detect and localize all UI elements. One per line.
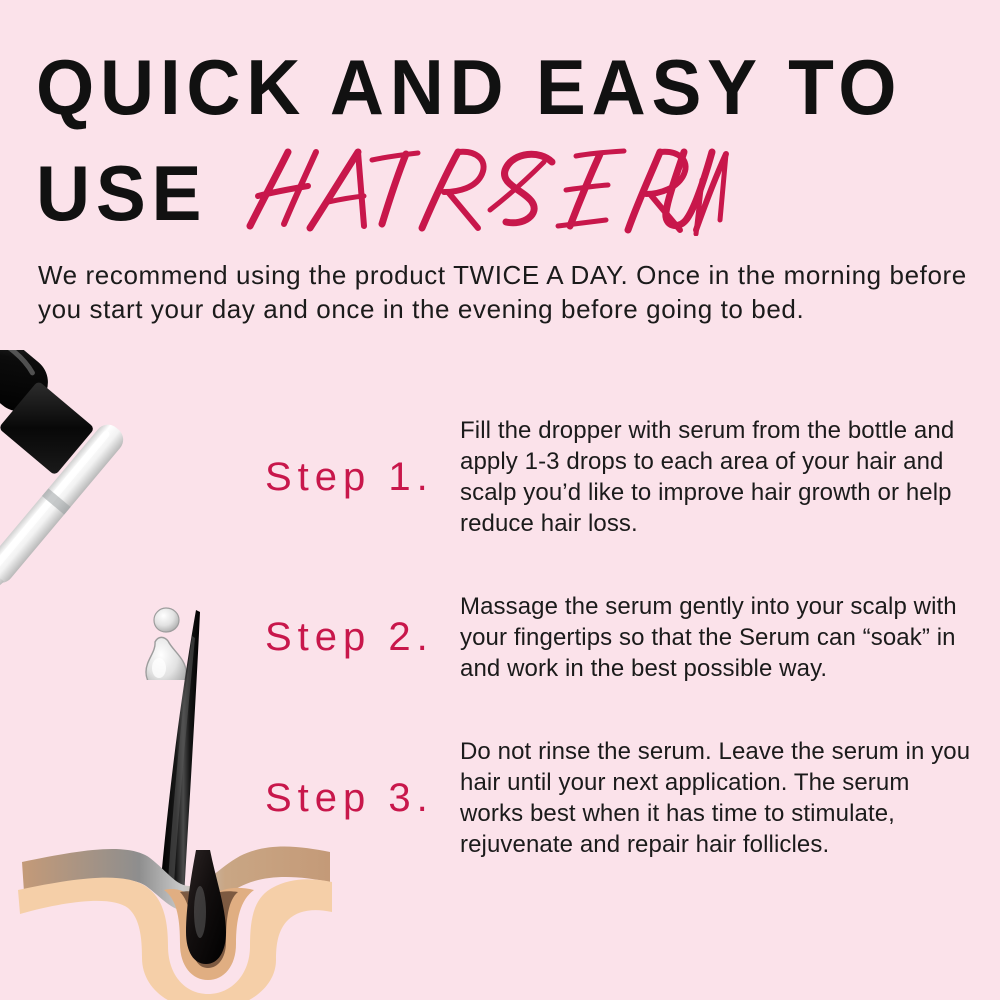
steps-list: Step 1. Fill the dropper with serum from… [265, 392, 975, 884]
headline-line-1: QUICK AND EASY TO [36, 48, 929, 126]
step-1-label: Step 1. [265, 455, 460, 500]
script-hair-serum [232, 140, 732, 236]
step-item-1: Step 1. Fill the dropper with serum from… [265, 392, 975, 562]
step-item-3: Step 3. Do not rinse the serum. Leave th… [265, 712, 975, 884]
subtitle-text: We recommend using the product TWICE A D… [38, 258, 968, 326]
headline-use-word: USE [36, 154, 207, 232]
page-title: QUICK AND EASY TO USE [36, 48, 966, 232]
step-1-text: Fill the dropper with serum from the bot… [460, 415, 975, 539]
step-2-label: Step 2. [265, 615, 460, 660]
poster-canvas: QUICK AND EASY TO USE [0, 0, 1000, 1000]
step-item-2: Step 2. Massage the serum gently into yo… [265, 562, 975, 712]
step-3-label: Step 3. [265, 776, 460, 821]
step-2-text: Massage the serum gently into your scalp… [460, 591, 975, 684]
headline-line-2: USE [36, 136, 966, 232]
step-3-text: Do not rinse the serum. Leave the serum … [460, 736, 975, 860]
